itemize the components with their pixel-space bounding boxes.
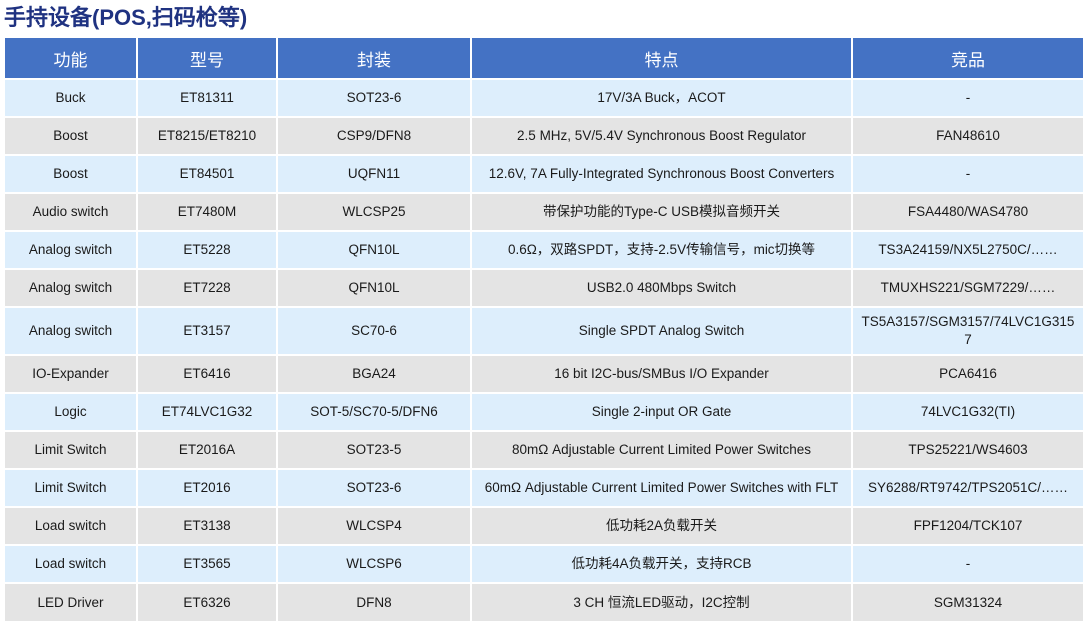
cell-competitor: TPS25221/WS4603 (852, 431, 1083, 469)
cell-competitor: FPF1204/TCK107 (852, 507, 1083, 545)
cell-package: SOT23-5 (277, 431, 471, 469)
cell-model: ET2016 (137, 469, 277, 507)
cell-function: Analog switch (5, 231, 137, 269)
cell-features: 带保护功能的Type-C USB模拟音频开关 (471, 193, 852, 231)
column-header-package: 封装 (277, 38, 471, 79)
cell-function: Boost (5, 155, 137, 193)
cell-features: 80mΩ Adjustable Current Limited Power Sw… (471, 431, 852, 469)
cell-features: 低功耗2A负载开关 (471, 507, 852, 545)
table-row: LED DriverET6326DFN83 CH 恒流LED驱动，I2C控制SG… (5, 583, 1083, 621)
cell-features: USB2.0 480Mbps Switch (471, 269, 852, 307)
table-row: Limit SwitchET2016SOT23-660mΩ Adjustable… (5, 469, 1083, 507)
table-row: Analog switchET7228QFN10LUSB2.0 480Mbps … (5, 269, 1083, 307)
cell-features: 0.6Ω，双路SPDT，支持-2.5V传输信号，mic切换等 (471, 231, 852, 269)
cell-model: ET6326 (137, 583, 277, 621)
table-row: Load switchET3565WLCSP6低功耗4A负载开关，支持RCB- (5, 545, 1083, 583)
cell-function: Boost (5, 117, 137, 155)
cell-competitor: - (852, 155, 1083, 193)
table-header: 功能 型号 封装 特点 竞品 (5, 38, 1083, 79)
cell-package: DFN8 (277, 583, 471, 621)
cell-function: Limit Switch (5, 431, 137, 469)
cell-model: ET81311 (137, 79, 277, 117)
cell-function: LED Driver (5, 583, 137, 621)
table-row: Analog switchET3157SC70-6Single SPDT Ana… (5, 307, 1083, 355)
product-spec-table: 功能 型号 封装 特点 竞品 BuckET81311SOT23-617V/3A … (5, 38, 1083, 621)
cell-features: Single 2-input OR Gate (471, 393, 852, 431)
cell-competitor: FSA4480/WAS4780 (852, 193, 1083, 231)
cell-model: ET74LVC1G32 (137, 393, 277, 431)
table-row: Limit SwitchET2016ASOT23-580mΩ Adjustabl… (5, 431, 1083, 469)
cell-model: ET7480M (137, 193, 277, 231)
cell-model: ET2016A (137, 431, 277, 469)
cell-features: 12.6V, 7A Fully-Integrated Synchronous B… (471, 155, 852, 193)
cell-package: SC70-6 (277, 307, 471, 355)
table-row: Audio switchET7480MWLCSP25带保护功能的Type-C U… (5, 193, 1083, 231)
cell-function: Analog switch (5, 269, 137, 307)
table-row: Load switchET3138WLCSP4低功耗2A负载开关FPF1204/… (5, 507, 1083, 545)
cell-model: ET8215/ET8210 (137, 117, 277, 155)
header-row: 功能 型号 封装 特点 竞品 (5, 38, 1083, 79)
cell-competitor: PCA6416 (852, 355, 1083, 393)
table-row: LogicET74LVC1G32SOT-5/SC70-5/DFN6Single … (5, 393, 1083, 431)
column-header-model: 型号 (137, 38, 277, 79)
cell-function: Audio switch (5, 193, 137, 231)
cell-function: Limit Switch (5, 469, 137, 507)
table-row: BuckET81311SOT23-617V/3A Buck，ACOT- (5, 79, 1083, 117)
cell-function: Load switch (5, 507, 137, 545)
cell-competitor: TS5A3157/SGM3157/74LVC1G3157 (852, 307, 1083, 355)
spec-table-wrapper: 功能 型号 封装 特点 竞品 BuckET81311SOT23-617V/3A … (0, 38, 1086, 621)
table-row: BoostET8215/ET8210CSP9/DFN82.5 MHz, 5V/5… (5, 117, 1083, 155)
column-header-function: 功能 (5, 38, 137, 79)
cell-competitor: SGM31324 (852, 583, 1083, 621)
cell-model: ET6416 (137, 355, 277, 393)
cell-competitor: SY6288/RT9742/TPS2051C/…… (852, 469, 1083, 507)
cell-features: 60mΩ Adjustable Current Limited Power Sw… (471, 469, 852, 507)
cell-features: 3 CH 恒流LED驱动，I2C控制 (471, 583, 852, 621)
cell-model: ET3565 (137, 545, 277, 583)
cell-function: Logic (5, 393, 137, 431)
cell-features: Single SPDT Analog Switch (471, 307, 852, 355)
cell-package: SOT-5/SC70-5/DFN6 (277, 393, 471, 431)
cell-package: SOT23-6 (277, 469, 471, 507)
cell-model: ET84501 (137, 155, 277, 193)
column-header-features: 特点 (471, 38, 852, 79)
table-body: BuckET81311SOT23-617V/3A Buck，ACOT-Boost… (5, 79, 1083, 621)
cell-function: Analog switch (5, 307, 137, 355)
cell-model: ET5228 (137, 231, 277, 269)
cell-package: WLCSP25 (277, 193, 471, 231)
column-header-competitor: 竞品 (852, 38, 1083, 79)
cell-competitor: TS3A24159/NX5L2750C/…… (852, 231, 1083, 269)
cell-competitor: TMUXHS221/SGM7229/…… (852, 269, 1083, 307)
cell-package: QFN10L (277, 231, 471, 269)
table-row: BoostET84501UQFN1112.6V, 7A Fully-Integr… (5, 155, 1083, 193)
cell-competitor: - (852, 545, 1083, 583)
cell-package: BGA24 (277, 355, 471, 393)
cell-model: ET3138 (137, 507, 277, 545)
cell-package: UQFN11 (277, 155, 471, 193)
cell-competitor: - (852, 79, 1083, 117)
cell-function: IO-Expander (5, 355, 137, 393)
cell-package: QFN10L (277, 269, 471, 307)
cell-competitor: 74LVC1G32(TI) (852, 393, 1083, 431)
cell-features: 低功耗4A负载开关，支持RCB (471, 545, 852, 583)
cell-features: 17V/3A Buck，ACOT (471, 79, 852, 117)
cell-package: SOT23-6 (277, 79, 471, 117)
cell-package: WLCSP6 (277, 545, 471, 583)
product-spec-page: 手持设备(POS,扫码枪等) 功能 型号 封装 特点 竞品 BuckET8131… (0, 0, 1086, 628)
cell-features: 16 bit I2C-bus/SMBus I/O Expander (471, 355, 852, 393)
cell-model: ET3157 (137, 307, 277, 355)
page-title: 手持设备(POS,扫码枪等) (0, 0, 1086, 38)
cell-features: 2.5 MHz, 5V/5.4V Synchronous Boost Regul… (471, 117, 852, 155)
cell-package: WLCSP4 (277, 507, 471, 545)
table-row: Analog switchET5228QFN10L0.6Ω，双路SPDT，支持-… (5, 231, 1083, 269)
cell-function: Load switch (5, 545, 137, 583)
cell-function: Buck (5, 79, 137, 117)
table-row: IO-ExpanderET6416BGA2416 bit I2C-bus/SMB… (5, 355, 1083, 393)
cell-model: ET7228 (137, 269, 277, 307)
cell-package: CSP9/DFN8 (277, 117, 471, 155)
cell-competitor: FAN48610 (852, 117, 1083, 155)
